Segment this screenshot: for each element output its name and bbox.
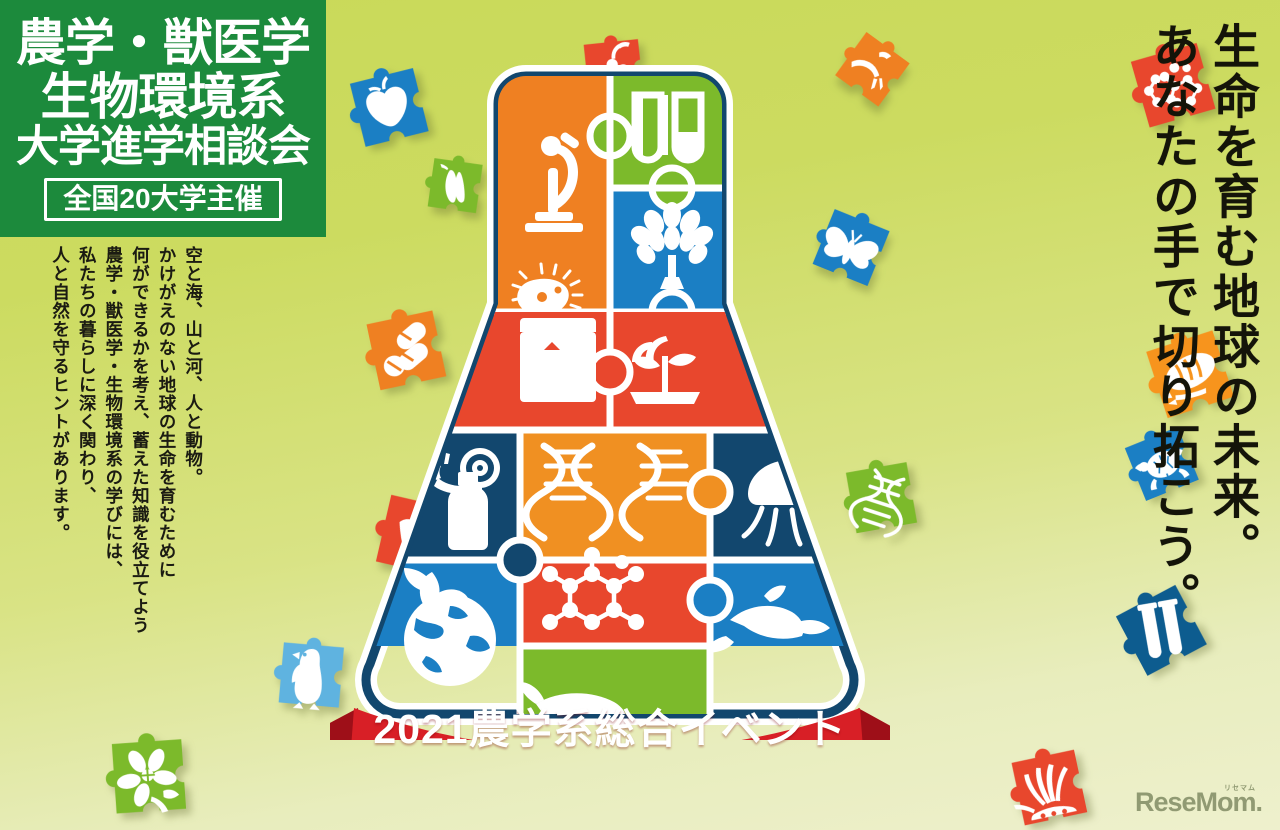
flask-illustration: [330, 40, 890, 740]
body-copy: 空と海、山と河、人と動物。 かけがえのない地球の生命を育むために 何ができるかを…: [47, 246, 207, 646]
poster-canvas: 2021農学系総合イベント 農学・獣医学 生物環境系 大学進学相談会 全国20大…: [0, 0, 1280, 830]
body-copy-line: 人と自然を守るヒントがあります。: [47, 246, 74, 642]
body-copy-line: かけがえのない地球の生命を育むために: [153, 246, 180, 642]
headline-line-1: 生命を育む地球の未来。: [1202, 22, 1262, 622]
badge-line-3: 大学進学相談会: [16, 126, 310, 169]
title-badge: 農学・獣医学 生物環境系 大学進学相談会 全国20大学主催: [0, 0, 326, 237]
ribbon-label: 2021農学系総合イベント: [330, 695, 890, 755]
badge-line-2: 生物環境系: [41, 72, 286, 122]
headline: 生命を育む地球の未来。 あなたの手で切り拓こう。: [1142, 22, 1262, 622]
headline-line-2: あなたの手で切り拓こう。: [1142, 22, 1202, 622]
badge-line-1: 農学・獣医学: [16, 18, 310, 68]
badge-subtitle: 全国20大学主催: [44, 178, 281, 221]
watermark: リセマム ReseMom.: [1135, 785, 1262, 816]
body-copy-line: 私たちの暮らしに深く関わり、: [74, 246, 101, 642]
book-icon: [520, 318, 596, 402]
body-copy-line: 農学・獣医学・生物環境系の学びには、: [100, 246, 127, 642]
puzzle-piece-anemone: [984, 726, 1114, 830]
watermark-text: ReseMom.: [1135, 787, 1262, 817]
body-copy-line: 空と海、山と河、人と動物。: [180, 246, 207, 642]
body-copy-line: 何ができるかを考え、蓄えた知識を役立てよう: [127, 246, 154, 642]
puzzle-piece-flower: [84, 716, 212, 830]
